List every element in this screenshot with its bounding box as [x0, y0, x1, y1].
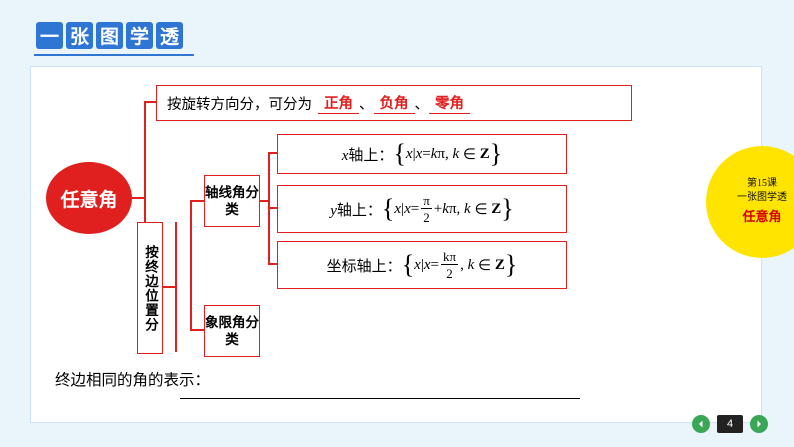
rotation-item-negative: 负角	[374, 92, 415, 114]
page-number: 4	[717, 415, 743, 433]
formula-3-frac-den: 2	[441, 267, 458, 281]
chevron-right-icon[interactable]	[750, 415, 768, 433]
badge-series-name: 一张图学透	[737, 191, 787, 205]
rotation-sep-2: 、	[415, 93, 430, 114]
formula-3-fraction: kπ 2	[441, 250, 458, 281]
rotation-item-zero: 零角	[429, 92, 470, 114]
formula-1-lead: x轴上：	[342, 144, 394, 165]
badge-topic: 任意角	[742, 207, 781, 227]
page-title: 一 张 图 学 透	[36, 22, 183, 49]
formula-box-x-axis: x轴上： { x|x = kπ, k ∈ Z }	[277, 134, 567, 174]
formula-box-coordinate-axis: 坐标轴上： { x|x = kπ 2 , k ∈ Z }	[277, 241, 567, 289]
title-char-1: 一	[36, 22, 63, 49]
connector-position-stem	[161, 286, 175, 288]
title-char-2: 张	[66, 22, 93, 49]
position-branch-label: 按终边位置分	[137, 222, 163, 354]
formula-2-lead: y轴上：	[330, 199, 382, 220]
rotation-sep-1: 、	[359, 93, 374, 114]
formula-1-expr: x	[406, 146, 413, 163]
formula-2-fraction: π 2	[421, 194, 432, 225]
rotation-prefix: 按旋转方向分，可分为	[167, 93, 312, 114]
formula-box-y-axis: y轴上： { x|x = π 2 + kπ, k ∈ Z }	[277, 185, 567, 233]
badge-lesson-number: 第15课	[747, 177, 777, 191]
axis-angle-label: 轴线角分类	[204, 175, 260, 227]
formula-2-frac-den: 2	[421, 211, 432, 225]
pager[interactable]: 4	[692, 415, 768, 433]
formula-3-lead: 坐标轴上：	[327, 255, 402, 276]
formula-1-k: k	[453, 146, 460, 163]
title-char-5: 透	[156, 22, 183, 49]
connector-position-vertical	[190, 200, 192, 330]
title-char-3: 图	[96, 22, 123, 49]
formula-2-var: y	[330, 203, 337, 219]
title-underline	[34, 54, 194, 56]
connector-position-bracket	[175, 222, 177, 352]
connector-to-quadrant-label	[190, 329, 205, 331]
connector-to-axis-label	[190, 200, 205, 202]
formula-2-frac-num: π	[421, 194, 432, 207]
chevron-left-icon[interactable]	[692, 415, 710, 433]
bottom-answer-line	[180, 398, 580, 399]
main-node-any-angle: 任意角	[46, 162, 132, 234]
slide-header: 一 张 图 学 透	[0, 0, 794, 66]
slide-root: 一 张 图 学 透 第15课 一张图学透 任意角 任意角 按旋转方向分，可分为 …	[0, 0, 794, 447]
rotation-item-positive: 正角	[318, 92, 359, 114]
bottom-prompt: 终边相同的角的表示：	[55, 368, 210, 390]
title-char-4: 学	[126, 22, 153, 49]
formula-3-frac-num: kπ	[441, 250, 458, 263]
rotation-direction-box: 按旋转方向分，可分为 正角 、 负角 、 零角	[156, 85, 632, 121]
quadrant-angle-label: 象限角分类	[204, 305, 260, 357]
formula-1-var: x	[342, 148, 349, 164]
